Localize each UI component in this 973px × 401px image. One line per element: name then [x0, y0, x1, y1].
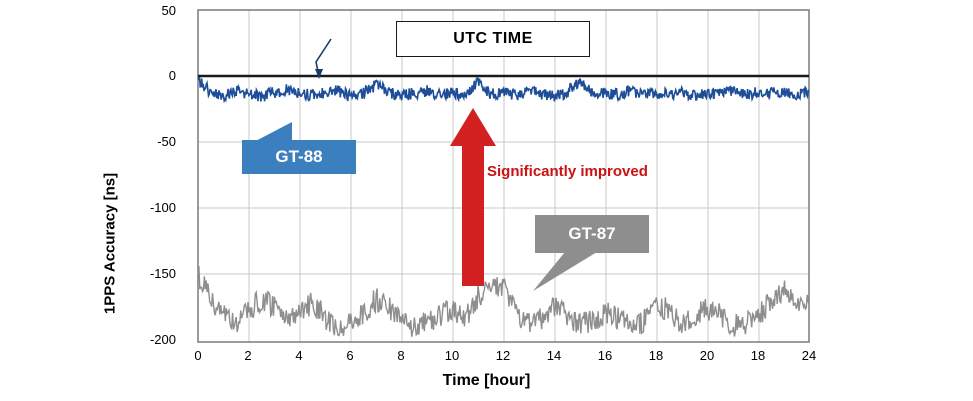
utc-time-callout: UTC TIME	[396, 21, 590, 57]
chart-canvas: 1PPS Accuracy [ns] Time [hour] 50 0 -50 …	[0, 0, 973, 401]
plot-svg	[0, 0, 973, 401]
improvement-label: Significantly improved	[487, 163, 648, 180]
gt87-callout-pointer-icon	[533, 252, 597, 291]
utc-callout-leader-icon	[315, 39, 331, 79]
improvement-arrow-icon	[450, 108, 496, 286]
gt87-callout: GT-87	[535, 215, 649, 253]
gt88-callout: GT-88	[242, 140, 356, 174]
